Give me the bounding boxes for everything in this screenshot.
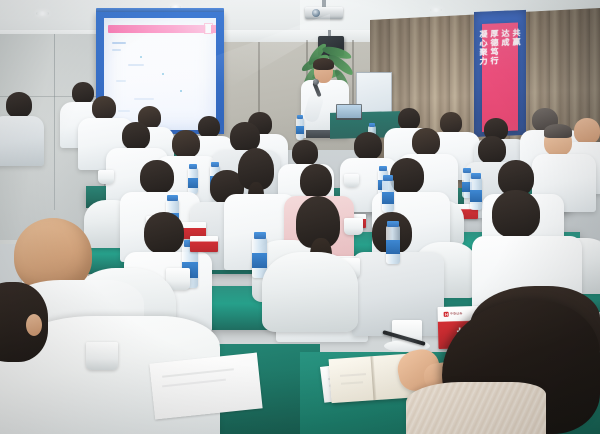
coffee-cup	[86, 342, 118, 370]
attendee-head	[492, 190, 540, 238]
coffee-cup	[344, 174, 359, 187]
attendee-head	[72, 82, 94, 104]
logo-mark-icon: H	[444, 312, 449, 317]
ceiling-projector	[305, 7, 343, 19]
attendee-head	[172, 130, 200, 158]
attendee-head	[198, 116, 220, 138]
slide-marker	[162, 73, 164, 75]
recessed-light-4	[430, 8, 442, 12]
laptop-screen	[337, 105, 361, 118]
attendee-head	[390, 158, 424, 194]
slide-badge-accent	[211, 25, 216, 33]
name-plate-text	[190, 242, 218, 252]
slide-text-line	[112, 42, 126, 44]
water-bottle	[470, 178, 482, 210]
water-bottle	[296, 118, 304, 140]
attendee-hair	[544, 124, 572, 138]
coffee-cup	[344, 218, 363, 235]
recessed-light-1	[36, 11, 49, 16]
slide-text-line	[116, 80, 126, 82]
banner-column-3: 达成	[501, 29, 510, 131]
name-plate	[190, 236, 218, 252]
attendee-head	[574, 118, 600, 144]
coffee-cup	[98, 170, 114, 184]
attendee-head	[440, 112, 462, 134]
conference-room-photo: 凝心聚力 厚德笃行 达成 共赢	[0, 0, 600, 434]
wall-banner: 凝心聚力 厚德笃行 达成 共赢	[482, 22, 518, 132]
slide-text-line	[118, 110, 130, 112]
attendee-head	[300, 164, 332, 198]
water-bottle	[382, 180, 394, 212]
attendee-head	[140, 160, 174, 194]
projector-lens-icon	[312, 9, 320, 17]
foreground-woman-sweater	[406, 382, 546, 434]
banner-column-4: 共赢	[512, 28, 521, 130]
slide-header-band	[108, 25, 206, 33]
slide-text-line	[128, 64, 144, 66]
attendee-head	[144, 212, 184, 254]
attendee-head	[92, 96, 116, 120]
name-plate-org: 中泰证券	[450, 313, 462, 317]
chair	[262, 252, 358, 332]
slide-marker	[180, 90, 182, 92]
banner-column-1: 凝心聚力	[479, 30, 488, 132]
slide-text-line	[134, 98, 154, 100]
attendee-head	[6, 92, 32, 118]
attendee-ear	[26, 314, 42, 336]
attendee-shirt	[0, 116, 44, 166]
slide-text-line	[112, 49, 121, 51]
banner-column-2: 厚德笃行	[490, 29, 499, 131]
attendee-head	[122, 122, 150, 150]
water-bottle	[188, 168, 198, 194]
attendee-head	[292, 140, 318, 166]
attendee-head	[478, 136, 506, 164]
attendee-head	[398, 108, 420, 130]
slide-marker	[140, 56, 142, 58]
presenter-hair	[313, 58, 334, 70]
attendee-head	[354, 132, 382, 160]
water-bottle	[386, 226, 400, 264]
microphone-head-icon	[313, 79, 319, 85]
attendee-head	[412, 128, 440, 156]
